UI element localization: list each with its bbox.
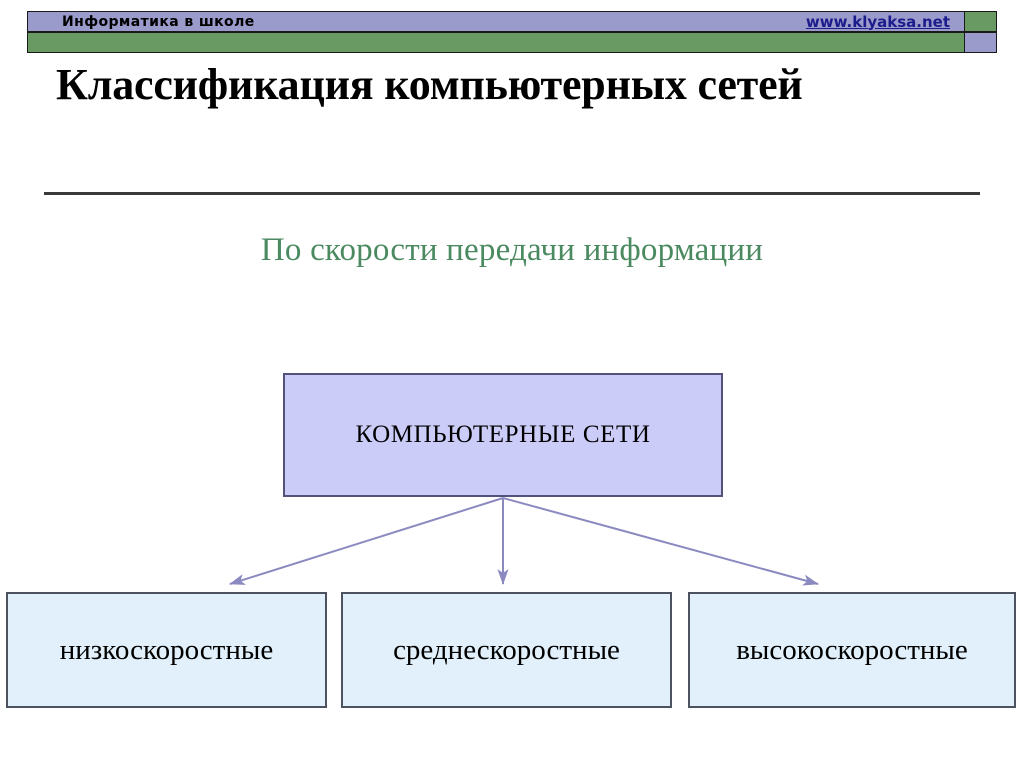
diagram-node-medium-speed-label: среднескоростные <box>393 634 620 667</box>
diagram-node-low-speed-label: низкоскоростные <box>60 634 273 667</box>
diagram-node-root: КОМПЬЮТЕРНЫЕ СЕТИ <box>283 373 723 497</box>
page-title: Классификация компьютерных сетей <box>56 58 866 113</box>
slide-subtitle: По скорости передачи информации <box>0 232 1024 269</box>
banner-title-bar: Информатика в школе www.klyaksa.net <box>27 11 965 32</box>
arrow-root-to-low <box>230 498 503 584</box>
header-banner: Информатика в школе www.klyaksa.net <box>27 11 997 53</box>
banner-accent-square-purple <box>965 32 997 53</box>
title-divider <box>44 192 980 195</box>
diagram-node-root-label: КОМПЬЮТЕРНЫЕ СЕТИ <box>355 421 650 449</box>
banner-row-top: Информатика в школе www.klyaksa.net <box>27 11 997 32</box>
header-url-link[interactable]: www.klyaksa.net <box>806 13 950 31</box>
diagram-node-high-speed-label: высокоскоростные <box>736 634 968 667</box>
banner-green-bar <box>27 32 965 53</box>
arrow-root-to-high <box>503 498 818 584</box>
diagram-node-medium-speed: среднескоростные <box>341 592 672 708</box>
header-site-label: Информатика в школе <box>62 14 255 30</box>
banner-accent-square-green <box>965 11 997 32</box>
diagram-node-low-speed: низкоскоростные <box>6 592 327 708</box>
banner-row-bottom <box>27 32 997 53</box>
diagram-node-high-speed: высокоскоростные <box>688 592 1016 708</box>
